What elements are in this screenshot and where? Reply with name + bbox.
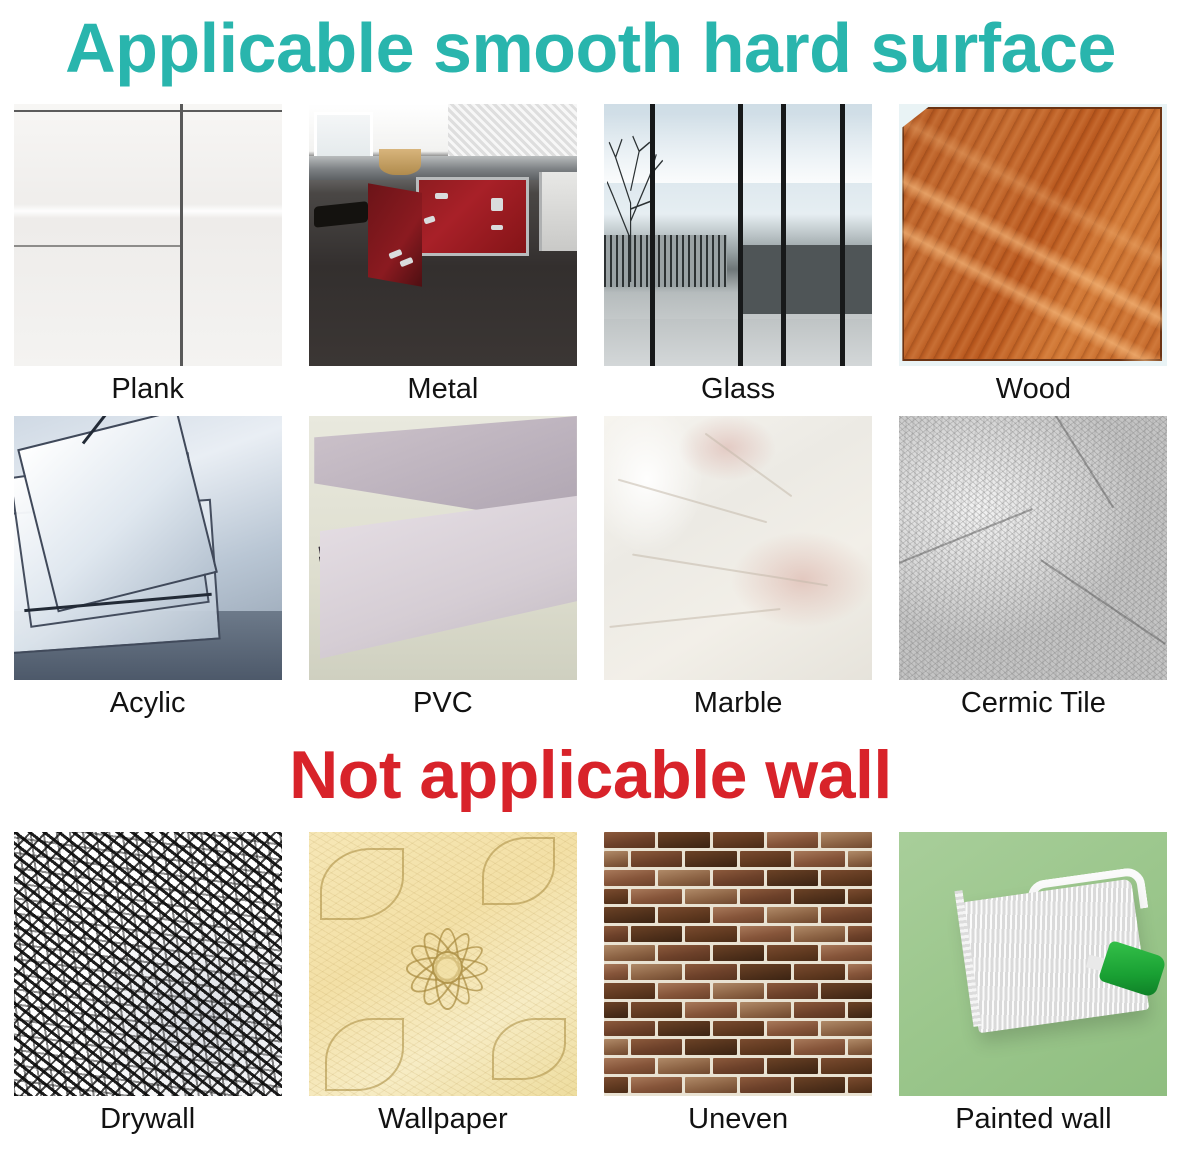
surface-card-metal: Metal — [295, 104, 590, 404]
brick — [658, 870, 709, 886]
brick-row — [604, 945, 872, 964]
brick — [821, 832, 872, 848]
brick-row — [604, 1077, 872, 1096]
marble-vein — [705, 432, 793, 497]
brick — [821, 907, 872, 923]
brick — [685, 851, 736, 867]
brick — [685, 1002, 736, 1018]
plank-image — [14, 104, 282, 366]
applicable-surface-row-1: Plank Metal — [0, 104, 1181, 404]
marble-vein — [618, 479, 768, 524]
brick — [631, 926, 682, 942]
ceramic-crack — [1040, 559, 1166, 645]
surface-label-marble: Marble — [694, 688, 783, 720]
painted-wall-texture — [899, 832, 1167, 1096]
brick — [821, 1021, 872, 1037]
brick — [658, 945, 709, 961]
flower-icon — [368, 880, 523, 1049]
marble-vein — [632, 554, 828, 587]
marble-texture — [604, 416, 872, 680]
surface-label-uneven: Uneven — [688, 1104, 788, 1136]
surface-label-ceramic-tile: Cermic Tile — [961, 688, 1106, 720]
surface-label-metal: Metal — [407, 374, 478, 406]
brick — [740, 1002, 791, 1018]
metal-cooktop — [314, 201, 368, 228]
brick — [848, 926, 872, 942]
brick — [794, 889, 845, 905]
brick — [604, 926, 628, 942]
brick — [604, 1002, 628, 1018]
painted-wall-image — [899, 832, 1167, 1096]
brick-row — [604, 926, 872, 945]
brick — [848, 1002, 872, 1018]
brick-row — [604, 870, 872, 889]
brick-row — [604, 889, 872, 908]
surface-label-pvc: PVC — [413, 688, 473, 720]
brick — [658, 907, 709, 923]
metal-handle — [491, 225, 503, 231]
metal-handle — [435, 193, 448, 199]
brick — [604, 1077, 628, 1093]
surface-card-marble: Marble — [591, 416, 886, 728]
brick — [713, 1021, 764, 1037]
metal-image — [309, 104, 577, 366]
surface-card-pvc: PVC — [295, 416, 590, 728]
brick — [740, 889, 791, 905]
pvc-texture — [309, 416, 577, 680]
plank-sheen — [14, 204, 282, 218]
brick-row — [604, 1039, 872, 1058]
surface-label-wood: Wood — [996, 374, 1071, 406]
brick — [604, 945, 655, 961]
brick — [604, 870, 655, 886]
brick — [631, 889, 682, 905]
brick — [604, 832, 655, 848]
surface-card-wood: Wood — [886, 104, 1181, 404]
brick — [658, 983, 709, 999]
ceramic-crack — [899, 508, 1033, 568]
brick — [713, 907, 764, 923]
brick — [794, 1002, 845, 1018]
brick-row — [604, 964, 872, 983]
surface-card-ceramic-tile: Cermic Tile — [886, 416, 1181, 728]
brick — [794, 926, 845, 942]
plank-texture — [14, 104, 282, 366]
brick — [794, 1077, 845, 1093]
brick — [848, 1039, 872, 1055]
surface-card-acrylic: Acylic — [0, 416, 295, 728]
surface-card-drywall: Drywall — [0, 832, 295, 1144]
metal-red-cabinet-side — [368, 183, 422, 287]
brick — [767, 870, 818, 886]
brick — [767, 983, 818, 999]
brick — [604, 907, 655, 923]
pvc-image — [309, 416, 577, 680]
acrylic-image — [14, 416, 282, 680]
brick — [767, 1021, 818, 1037]
brick — [631, 1039, 682, 1055]
surface-label-wallpaper: Wallpaper — [378, 1104, 507, 1136]
brick — [821, 1058, 872, 1074]
brick — [740, 964, 791, 980]
glass-image — [604, 104, 872, 366]
wood-slab — [902, 107, 1162, 361]
applicable-heading: Applicable smooth hard surface — [0, 8, 1181, 88]
brick — [658, 1058, 709, 1074]
wallpaper-image — [309, 832, 577, 1096]
brick-texture — [604, 832, 872, 1096]
brick — [767, 1058, 818, 1074]
ceramic-crack — [1038, 416, 1114, 508]
brick — [713, 983, 764, 999]
brick — [685, 889, 736, 905]
brick-row — [604, 907, 872, 926]
surface-label-acrylic: Acylic — [110, 688, 186, 720]
surface-label-glass: Glass — [701, 374, 775, 406]
metal-white-cabinet — [539, 172, 577, 251]
drywall-image — [14, 832, 282, 1096]
brick — [658, 832, 709, 848]
glass-mullion — [738, 104, 743, 366]
brick — [631, 1002, 682, 1018]
brick — [658, 1021, 709, 1037]
brick — [821, 945, 872, 961]
brick — [604, 1021, 655, 1037]
brick-row — [604, 851, 872, 870]
brick — [713, 832, 764, 848]
surface-label-painted-wall: Painted wall — [955, 1104, 1111, 1136]
marble-image — [604, 416, 872, 680]
plank-seam — [14, 245, 180, 247]
surface-card-glass: Glass — [591, 104, 886, 404]
brick — [821, 870, 872, 886]
brick — [713, 1058, 764, 1074]
brick-row — [604, 832, 872, 851]
ceramic-texture — [899, 416, 1167, 680]
brick — [821, 983, 872, 999]
brick — [604, 983, 655, 999]
pvc-sheet-bottom — [320, 495, 577, 659]
surface-label-drywall: Drywall — [100, 1104, 195, 1136]
brick-row — [604, 983, 872, 1002]
brick — [767, 945, 818, 961]
wood-texture — [899, 104, 1167, 366]
surface-card-plank: Plank — [0, 104, 295, 404]
brick — [685, 1077, 736, 1093]
brick — [740, 851, 791, 867]
glass-mullion — [840, 104, 845, 366]
brick — [848, 889, 872, 905]
surface-label-plank: Plank — [111, 374, 184, 406]
brick — [604, 851, 628, 867]
glass-shadow — [738, 245, 872, 313]
brick — [794, 1039, 845, 1055]
surface-card-uneven: Uneven — [591, 832, 886, 1144]
not-applicable-heading: Not applicable wall — [0, 737, 1181, 813]
brick — [740, 1039, 791, 1055]
brick — [685, 926, 736, 942]
brick — [631, 851, 682, 867]
brick — [604, 1058, 655, 1074]
glass-mullion — [650, 104, 655, 366]
ceramic-tile-image — [899, 416, 1167, 680]
wallpaper-texture — [309, 832, 577, 1096]
flower-center — [432, 951, 462, 984]
brick — [685, 1039, 736, 1055]
surface-card-painted-wall: Painted wall — [886, 832, 1181, 1144]
brick — [767, 907, 818, 923]
brick — [740, 1077, 791, 1093]
uneven-brick-image — [604, 832, 872, 1096]
brick — [794, 964, 845, 980]
brick — [604, 1039, 628, 1055]
brick — [685, 964, 736, 980]
brick — [604, 964, 628, 980]
wood-image — [899, 104, 1167, 366]
brick — [713, 945, 764, 961]
metal-handle — [491, 198, 503, 211]
glass-texture — [604, 104, 872, 366]
metal-bowl — [379, 149, 422, 175]
glass-mullion — [781, 104, 786, 366]
brick — [740, 926, 791, 942]
brick — [631, 964, 682, 980]
not-applicable-surface-row: Drywall Wallpaper — [0, 832, 1181, 1144]
brick-row — [604, 1002, 872, 1021]
metal-texture — [309, 104, 577, 366]
brick — [848, 1077, 872, 1093]
brick — [848, 964, 872, 980]
metal-backsplash — [448, 104, 577, 162]
marble-vein — [610, 608, 781, 628]
applicable-surface-row-2: Acylic PVC Marble — [0, 416, 1181, 728]
tree-icon — [607, 130, 714, 282]
brick — [848, 851, 872, 867]
drywall-texture — [14, 832, 282, 1096]
brick-row — [604, 1021, 872, 1040]
brick — [713, 870, 764, 886]
brick — [631, 1077, 682, 1093]
brick — [794, 851, 845, 867]
acrylic-texture — [14, 416, 282, 680]
brick — [767, 832, 818, 848]
brick — [604, 889, 628, 905]
surface-card-wallpaper: Wallpaper — [295, 832, 590, 1144]
brick-row — [604, 1058, 872, 1077]
